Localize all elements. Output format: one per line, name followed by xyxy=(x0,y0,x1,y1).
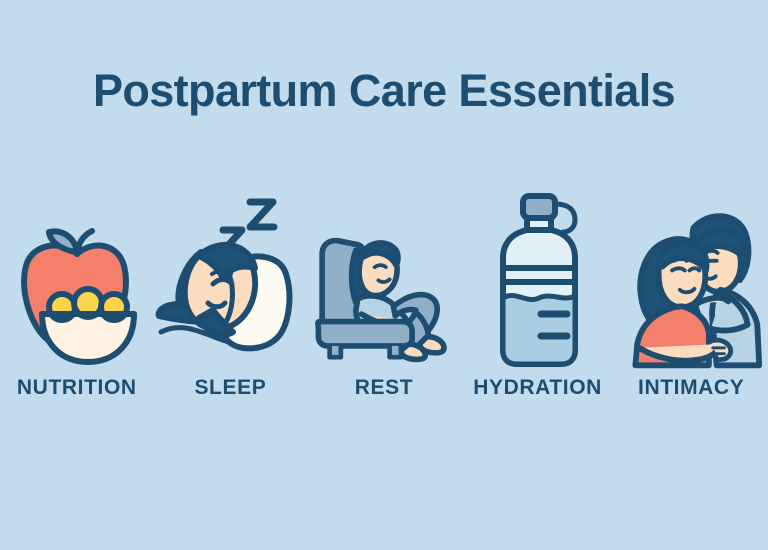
sleeping-woman-on-pillow-icon xyxy=(155,188,305,370)
essential-label-rest: REST xyxy=(355,376,413,400)
essential-item-hydration[interactable]: HYDRATION xyxy=(461,175,615,400)
essential-label-nutrition: NUTRITION xyxy=(17,376,137,400)
essential-label-intimacy: INTIMACY xyxy=(638,376,744,400)
essential-item-intimacy[interactable]: INTIMACY xyxy=(614,175,768,400)
essential-label-hydration: HYDRATION xyxy=(473,376,602,400)
essential-item-nutrition[interactable]: NUTRITION xyxy=(0,175,154,400)
page-title: Postpartum Care Essentials xyxy=(0,66,768,116)
essential-label-sleep: SLEEP xyxy=(194,376,266,400)
essential-item-sleep[interactable]: SLEEP xyxy=(154,175,308,400)
water-bottle-icon xyxy=(463,188,613,370)
essentials-row: NUTRITION xyxy=(0,175,768,400)
essential-item-rest[interactable]: REST xyxy=(307,175,461,400)
couple-embracing-icon xyxy=(616,188,766,370)
infographic-canvas: Postpartum Care Essentials xyxy=(0,0,768,550)
woman-reclining-in-armchair-icon xyxy=(309,188,459,370)
apple-and-fruit-bowl-icon xyxy=(2,188,152,370)
